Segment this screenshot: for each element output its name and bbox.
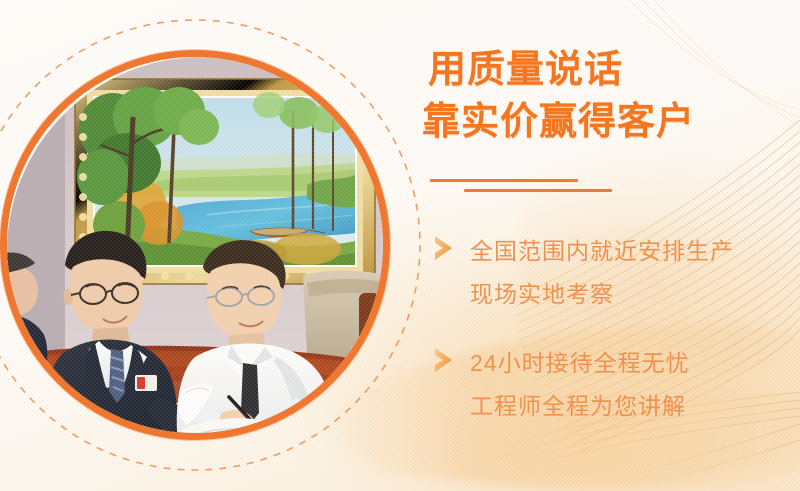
list-item: 24小时接待全程无忧 工程师全程为您讲解 (422, 342, 800, 428)
bullet-1-line-1: 全国范围内就近安排生产 (470, 230, 800, 273)
list-item: 全国范围内就近安排生产 现场实地考察 (422, 230, 800, 316)
divider-line-upper (430, 179, 578, 182)
headline-line-2: 靠实价赢得客户 (422, 96, 800, 148)
photo-image (7, 57, 383, 433)
headline-line-1: 用质量说话 (422, 44, 800, 96)
hero-photo (0, 50, 390, 440)
list-item-text: 24小时接待全程无忧 工程师全程为您讲解 (422, 342, 800, 428)
promo-banner: 用质量说话 靠实价赢得客户 (0, 0, 800, 491)
divider-line-lower (464, 189, 612, 192)
banner-content: 用质量说话 靠实价赢得客户 (422, 0, 800, 491)
bullet-2-line-2: 工程师全程为您讲解 (470, 385, 800, 428)
list-item-text: 全国范围内就近安排生产 现场实地考察 (422, 230, 800, 316)
feature-list: 全国范围内就近安排生产 现场实地考察 (422, 230, 800, 454)
bullet-1-line-2: 现场实地考察 (470, 273, 800, 316)
chevron-right-icon (432, 234, 458, 262)
divider (430, 175, 680, 201)
photo-circle-frame (0, 50, 390, 440)
chevron-right-icon (432, 346, 458, 374)
headline-block: 用质量说话 靠实价赢得客户 (422, 44, 800, 148)
bullet-2-line-1: 24小时接待全程无忧 (470, 342, 800, 385)
